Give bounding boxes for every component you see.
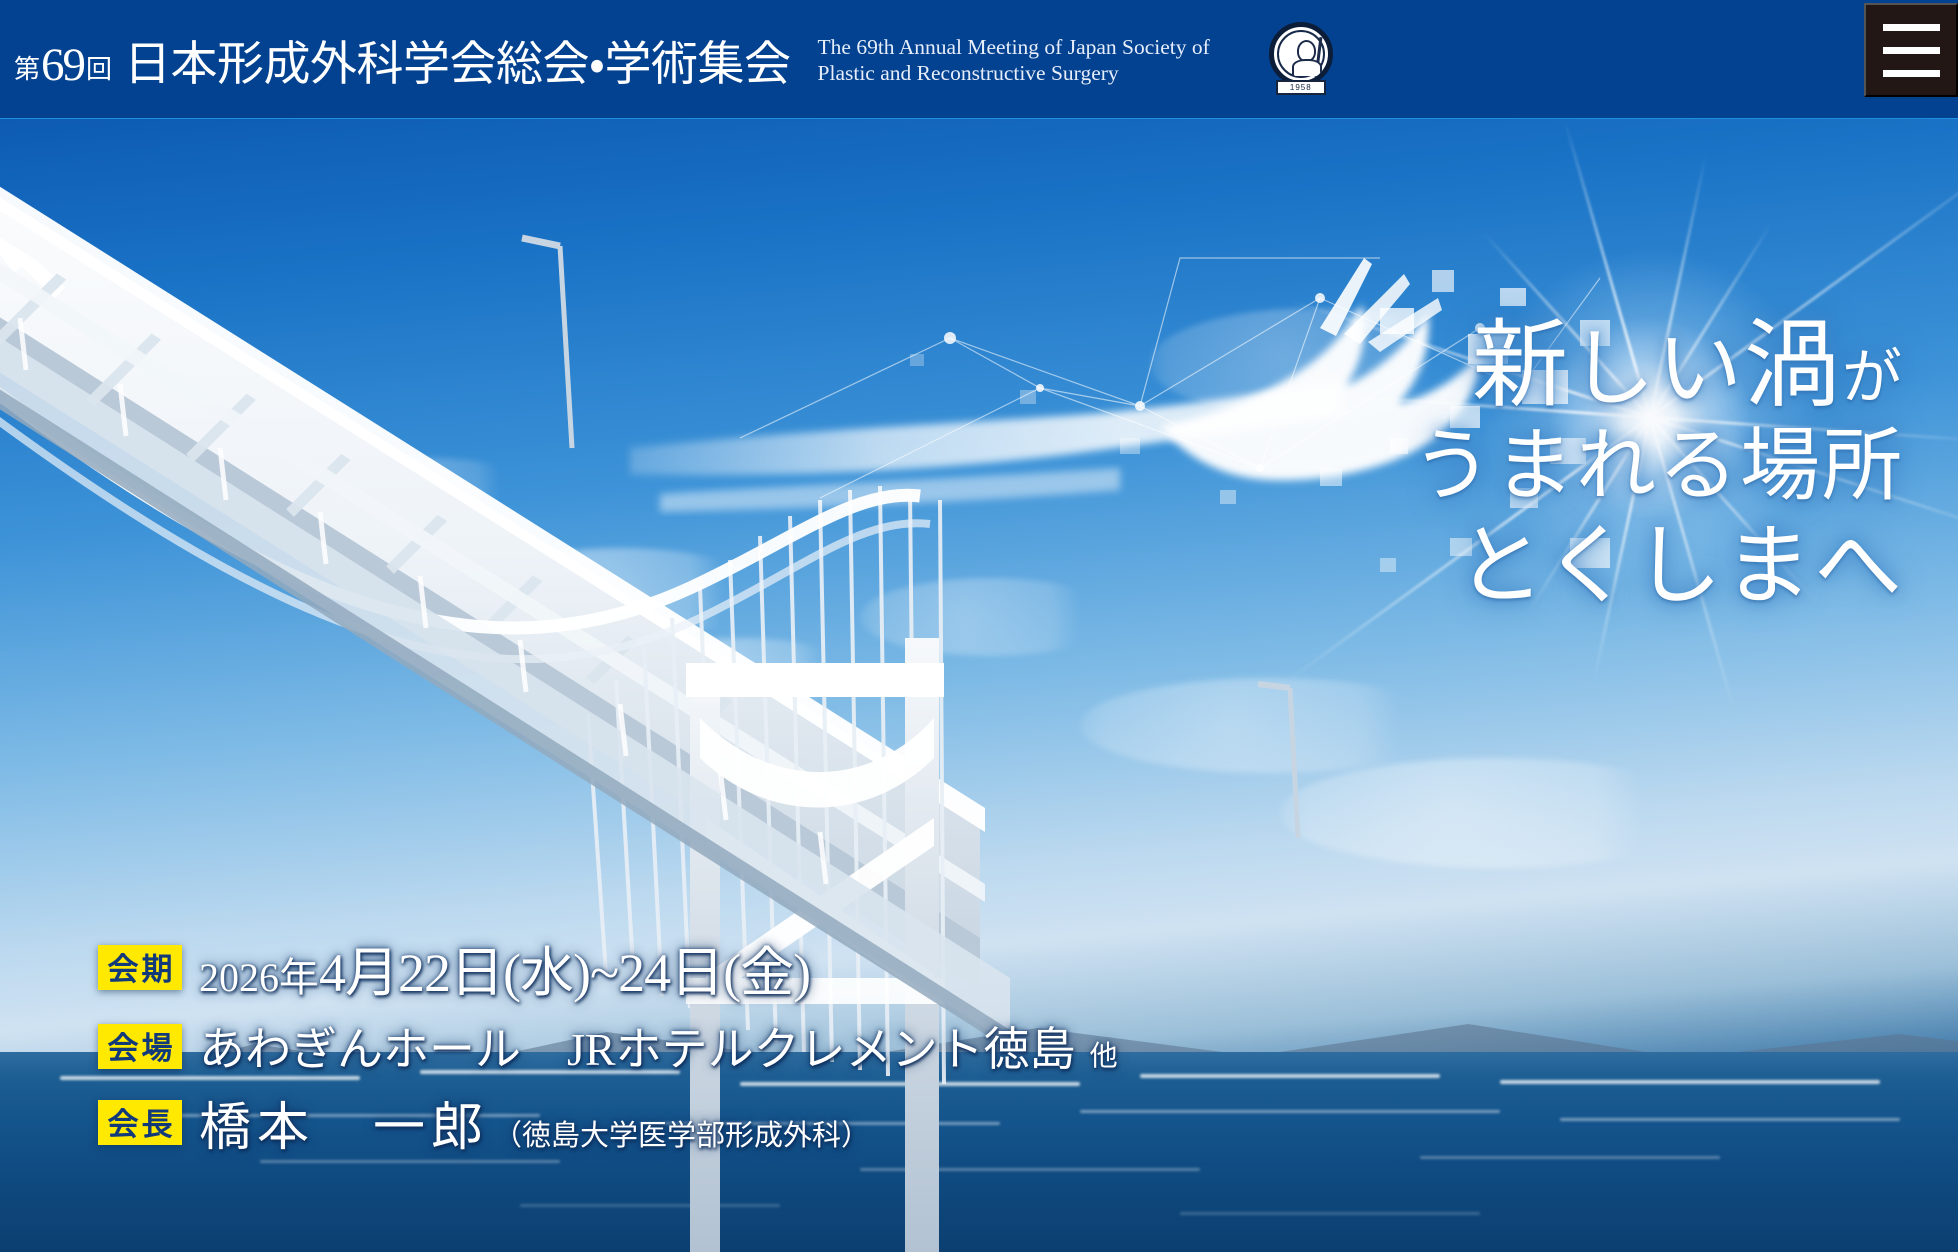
site-header: 第69回 日本形成外科学会総会・学術集会 The 69th Annual Mee… <box>0 0 1958 118</box>
meeting-title-en-line2: Plastic and Reconstructive Surgery <box>818 60 1210 86</box>
event-date-range: 4月22日(水)~24日(金) <box>319 928 810 1007</box>
meeting-title-en-line1: The 69th Annual Meeting of Japan Society… <box>818 34 1210 60</box>
event-chair-affiliation: （徳島大学医学部形成外科） <box>493 1112 870 1154</box>
menu-bar-middle <box>1883 47 1940 54</box>
cloud <box>620 638 860 708</box>
particle <box>1320 468 1342 486</box>
wave-crest <box>260 1160 560 1163</box>
particle <box>910 354 924 366</box>
wave-crest <box>1080 1110 1500 1113</box>
hero-banner: 新しい渦が うまれる場所 とくしまへ 会期 2026年4月22日(水)~24日(… <box>0 118 1958 1252</box>
emblem-ring <box>1269 22 1333 86</box>
particle <box>1380 308 1414 334</box>
wave-crest <box>1420 1156 1720 1159</box>
particle <box>1120 438 1140 454</box>
particle <box>1390 438 1408 454</box>
event-date-text: 2026年4月22日(水)~24日(金) <box>199 928 810 1007</box>
wave-crest <box>1560 1118 1900 1121</box>
cloud <box>1080 678 1460 773</box>
hero-catch-copy: 新しい渦が うまれる場所 とくしまへ <box>1412 308 1904 620</box>
ordinal-number: 69 <box>39 38 86 92</box>
status-badge-venue: 会場 <box>98 1024 182 1069</box>
hamburger-menu-icon[interactable] <box>1864 3 1958 97</box>
ordinal-prefix: 第 <box>14 49 39 86</box>
event-chair-text: 橋本 一郎（徳島大学医学部形成外科） <box>199 1085 870 1160</box>
emblem-banner: 1958 <box>1276 80 1326 95</box>
menu-bar-bottom <box>1883 70 1940 77</box>
catch-copy-line-1: 新しい渦が <box>1412 308 1904 423</box>
wave-crest <box>1500 1080 1880 1084</box>
emblem-body <box>1292 59 1322 76</box>
status-badge-chair: 会長 <box>98 1100 182 1145</box>
cloud <box>860 578 1120 656</box>
meeting-title-en: The 69th Annual Meeting of Japan Society… <box>818 32 1210 86</box>
event-date-year: 2026年 <box>199 945 319 1003</box>
wave-crest <box>1140 1074 1440 1078</box>
particle <box>1220 490 1236 504</box>
catch-copy-line-2: うまれる場所 <box>1412 419 1904 517</box>
catch-copy-ga: が <box>1842 345 1904 411</box>
status-badge-date: 会期 <box>98 945 182 990</box>
catch-copy-line-3: とくしまへ <box>1412 515 1904 621</box>
catch-copy-kanji-whirlpool: 渦 <box>1744 312 1842 419</box>
page-title: 第69回 日本形成外科学会総会・学術集会 <box>14 25 791 94</box>
menu-bar-top <box>1883 24 1940 31</box>
wave-crest <box>520 1204 780 1207</box>
event-venue-text: あわぎんホール JRホテルクレメント徳島他 <box>199 1013 1118 1079</box>
emblem-figure <box>1291 37 1327 81</box>
meeting-ordinal: 第69回 <box>14 38 111 92</box>
particle <box>1380 558 1396 572</box>
cloud <box>470 548 770 638</box>
wave-crest <box>860 1168 1200 1171</box>
particle <box>1500 288 1526 306</box>
cloud <box>1280 758 1710 868</box>
wave-crest <box>1180 1212 1480 1215</box>
cloud <box>330 458 530 518</box>
particle <box>1432 270 1454 292</box>
page-root: 第69回 日本形成外科学会総会・学術集会 The 69th Annual Mee… <box>0 0 1958 1252</box>
event-chair-name: 橋本 一郎 <box>199 1085 489 1160</box>
event-venue-name: あわぎんホール JRホテルクレメント徳島 <box>199 1013 1076 1079</box>
particle <box>1020 390 1036 404</box>
event-date-row: 会期 2026年4月22日(水)~24日(金) <box>98 928 1118 1007</box>
catch-copy-shii: しい <box>1570 323 1744 417</box>
society-emblem-icon[interactable]: 1958 <box>1266 22 1340 96</box>
brand[interactable]: 第69回 日本形成外科学会総会・学術集会 The 69th Annual Mee… <box>14 0 1340 118</box>
event-info-block: 会期 2026年4月22日(水)~24日(金) 会場 あわぎんホール JRホテル… <box>98 928 1118 1160</box>
event-chair-row: 会長 橋本 一郎（徳島大学医学部形成外科） <box>98 1085 1118 1160</box>
event-venue-row: 会場 あわぎんホール JRホテルクレメント徳島他 <box>98 1013 1118 1079</box>
ordinal-suffix: 回 <box>86 49 111 86</box>
catch-copy-kanji-new: 新 <box>1472 312 1570 419</box>
meeting-title-jp: 日本形成外科学会総会・学術集会 <box>124 25 790 94</box>
event-venue-etc: 他 <box>1090 1034 1118 1074</box>
